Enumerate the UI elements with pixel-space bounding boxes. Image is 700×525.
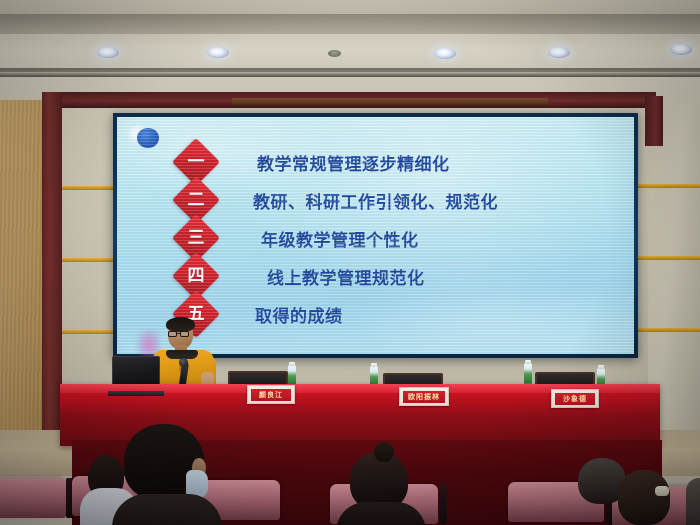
projection-screen-surface: 一 教学常规管理逐步精细化 二 教研、科研工作引领化、规范化 三 年级教学管理个… bbox=[117, 117, 634, 354]
agenda-item-text: 年级教学管理个性化 bbox=[261, 226, 419, 251]
presenter-hair bbox=[166, 317, 195, 332]
agenda-number-label: 二 bbox=[179, 183, 213, 217]
projector-valance bbox=[232, 98, 548, 106]
laptop-base bbox=[108, 391, 164, 396]
agenda-number-label: 三 bbox=[179, 221, 213, 255]
wall-gold-stripe bbox=[638, 184, 700, 188]
wall-gold-stripe bbox=[638, 256, 700, 260]
recessed-downlight bbox=[548, 47, 570, 58]
left-wall-wood-panel bbox=[0, 100, 46, 430]
audience-seat-back bbox=[0, 478, 66, 518]
slide-agenda-item: 三 年级教学管理个性化 bbox=[117, 219, 634, 257]
wall-gold-stripe bbox=[638, 328, 700, 332]
name-placard-label: 欧阳振林 bbox=[403, 391, 444, 403]
audience-woman-right-tie bbox=[655, 486, 669, 496]
slide-agenda-list: 一 教学常规管理逐步精细化 二 教研、科研工作引领化、规范化 三 年级教学管理个… bbox=[117, 143, 634, 333]
name-placard: 沙象德 bbox=[551, 389, 599, 408]
microphone-head bbox=[179, 358, 188, 367]
name-placard-label: 颜良江 bbox=[251, 389, 291, 401]
recessed-downlight bbox=[97, 47, 119, 58]
audience-far-right-partial bbox=[686, 478, 700, 525]
recessed-downlight bbox=[434, 48, 456, 59]
audience-seat-divider bbox=[440, 484, 447, 524]
audience-man-front-shoulder bbox=[112, 494, 222, 525]
recessed-downlight bbox=[207, 47, 229, 58]
right-pillar bbox=[645, 96, 663, 146]
recessed-downlight bbox=[670, 44, 692, 55]
name-placard-label: 沙象德 bbox=[555, 393, 595, 405]
agenda-item-text: 线上教学管理规范化 bbox=[267, 264, 425, 289]
agenda-item-text: 教学常规管理逐步精细化 bbox=[257, 150, 450, 175]
agenda-item-text: 取得的成绩 bbox=[255, 302, 343, 327]
wall-gold-stripe bbox=[62, 330, 114, 334]
bottle-cap bbox=[598, 365, 604, 369]
smoke-detector bbox=[328, 50, 341, 57]
slide-agenda-item: 二 教研、科研工作引领化、规范化 bbox=[117, 181, 634, 219]
presenter-glasses-left-lens bbox=[168, 331, 177, 337]
name-placard: 颜良江 bbox=[247, 385, 295, 404]
slide-agenda-item: 一 教学常规管理逐步精细化 bbox=[117, 143, 634, 181]
agenda-number-label: 一 bbox=[179, 145, 213, 179]
bottle-cap bbox=[289, 362, 295, 366]
bottle-cap bbox=[371, 363, 377, 367]
wall-gold-stripe bbox=[62, 186, 114, 190]
bottle-cap bbox=[525, 360, 531, 364]
conference-hall-photo: 一 教学常规管理逐步精细化 二 教研、科研工作引领化、规范化 三 年级教学管理个… bbox=[0, 0, 700, 525]
presenter-glasses-right-lens bbox=[180, 331, 189, 337]
name-placard: 欧阳振林 bbox=[399, 387, 449, 406]
agenda-item-text: 教研、科研工作引领化、规范化 bbox=[253, 188, 498, 213]
presenter-glasses-bridge bbox=[177, 333, 180, 334]
wall-gold-stripe bbox=[62, 258, 114, 262]
ceiling-recess-shadow bbox=[0, 14, 700, 36]
audience-woman-right-head bbox=[618, 470, 670, 525]
audience-woman-center-bun bbox=[374, 442, 394, 462]
slide-agenda-item: 四 线上教学管理规范化 bbox=[117, 257, 634, 295]
agenda-number-label: 四 bbox=[179, 259, 213, 293]
left-pillar bbox=[42, 92, 62, 437]
